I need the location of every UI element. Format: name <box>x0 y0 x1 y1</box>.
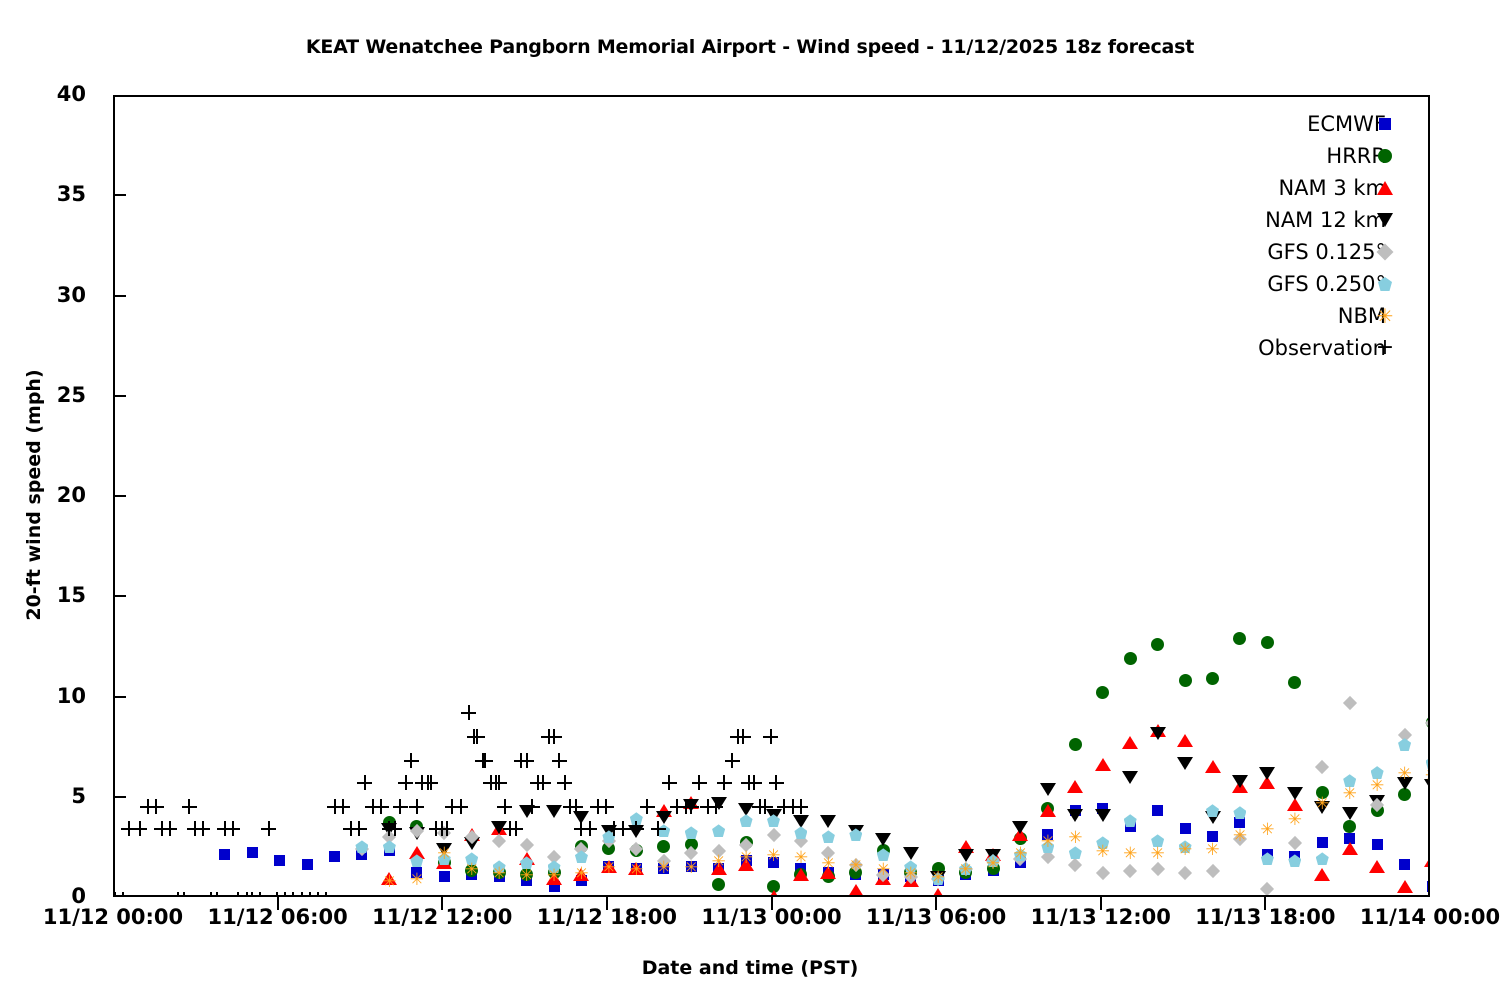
data-point-circle <box>1096 686 1109 699</box>
data-point-plus <box>149 799 164 814</box>
legend-marker-plus-icon: + <box>1374 337 1396 359</box>
data-point-tri-up <box>683 796 699 809</box>
data-point-star: ✳ <box>710 854 727 871</box>
data-point-circle <box>877 844 890 857</box>
data-point-square <box>411 867 422 878</box>
data-point-plus <box>582 821 597 836</box>
data-point-plus <box>253 892 268 896</box>
data-point-circle <box>904 866 917 879</box>
data-point-plus <box>692 775 707 790</box>
data-point-pent <box>1041 840 1054 853</box>
data-point-plus <box>519 753 534 768</box>
data-point-tri-up <box>848 884 864 895</box>
data-point-tri-down <box>875 833 891 846</box>
data-point-tri-up <box>1259 776 1275 789</box>
legend-item-nam-3-km[interactable]: NAM 3 km <box>1150 172 1420 204</box>
data-point-plus <box>209 892 224 896</box>
data-point-square <box>905 871 916 882</box>
legend-item-observation[interactable]: Observation+ <box>1150 332 1420 364</box>
data-point-plus <box>434 821 449 836</box>
data-point-pent <box>740 814 753 827</box>
data-point-plus <box>717 775 732 790</box>
x-tick-mark <box>1264 897 1266 910</box>
data-point-star: ✳ <box>765 848 782 865</box>
data-point-tri-up <box>628 862 644 875</box>
data-point-tri-down <box>1342 807 1358 820</box>
data-point-plus <box>162 821 177 836</box>
data-point-plus <box>445 799 460 814</box>
data-point-diamond <box>1068 858 1082 872</box>
data-point-plus <box>453 799 468 814</box>
data-point-diamond <box>1123 864 1137 878</box>
data-point-plus <box>467 729 482 744</box>
data-point-tri-down <box>1287 787 1303 800</box>
data-point-circle <box>493 866 506 879</box>
data-point-star: ✳ <box>1231 828 1248 845</box>
data-point-plus <box>217 821 232 836</box>
data-point-tri-up <box>1067 780 1083 793</box>
legend-item-nbm[interactable]: NBM✳ <box>1150 300 1420 332</box>
data-point-tri-down <box>848 825 864 838</box>
data-point-pent <box>520 856 533 869</box>
data-point-tri-up <box>793 868 809 881</box>
data-point-diamond <box>904 870 918 884</box>
data-point-pent <box>987 854 1000 867</box>
data-point-pent <box>548 860 561 873</box>
data-point-plus <box>547 729 562 744</box>
data-point-circle <box>1398 788 1411 801</box>
data-point-plus <box>678 799 693 814</box>
data-point-star: ✳ <box>1039 834 1056 851</box>
data-point-plus <box>187 821 202 836</box>
data-point-tri-up <box>464 828 480 841</box>
data-point-plus <box>286 892 301 896</box>
data-point-plus <box>398 775 413 790</box>
data-point-plus <box>470 729 485 744</box>
data-point-diamond <box>986 854 1000 868</box>
data-point-plus <box>615 821 630 836</box>
data-point-star: ✳ <box>1122 846 1139 863</box>
data-point-plus <box>574 821 589 836</box>
x-tick-label: 11/14 00:00 <box>1360 905 1500 929</box>
data-point-circle <box>1151 638 1164 651</box>
data-point-circle <box>822 870 835 883</box>
data-point-star: ✳ <box>957 862 974 879</box>
data-point-square <box>356 849 367 860</box>
data-point-plus <box>311 892 326 896</box>
data-point-square <box>247 847 258 858</box>
data-point-pent <box>1014 848 1027 861</box>
data-point-circle <box>740 836 753 849</box>
data-point-diamond <box>931 872 945 886</box>
data-point-star: ✳ <box>985 856 1002 873</box>
data-point-circle <box>1179 674 1192 687</box>
data-point-square <box>850 869 861 880</box>
data-point-plus <box>352 821 367 836</box>
data-point-circle <box>1261 636 1274 649</box>
data-point-tri-down <box>491 821 507 834</box>
data-point-tri-down <box>1314 801 1330 814</box>
x-tick-mark <box>771 897 773 910</box>
data-point-square <box>494 871 505 882</box>
data-point-tri-up <box>958 840 974 853</box>
data-point-diamond <box>1315 760 1329 774</box>
data-point-plus <box>116 892 131 896</box>
data-point-plus <box>374 799 389 814</box>
legend-marker-pent-icon <box>1374 273 1396 295</box>
data-point-plus <box>278 892 293 896</box>
data-point-circle <box>410 820 423 833</box>
data-point-tri-up <box>1177 734 1193 747</box>
data-point-pent <box>657 824 670 837</box>
data-point-circle <box>657 840 670 853</box>
data-point-tri-up <box>875 872 891 885</box>
data-point-tri-down <box>464 837 480 850</box>
data-point-pent <box>1069 846 1082 859</box>
data-point-square <box>988 865 999 876</box>
data-point-plus <box>327 799 342 814</box>
data-point-tri-down <box>1205 811 1221 824</box>
data-point-diamond <box>712 844 726 858</box>
data-point-pent <box>1096 836 1109 849</box>
data-point-tri-up <box>766 890 782 895</box>
data-point-star: ✳ <box>1094 844 1111 861</box>
data-point-star: ✳ <box>381 874 398 891</box>
data-point-plus <box>752 799 767 814</box>
data-point-plus <box>357 775 372 790</box>
data-point-plus <box>651 821 666 836</box>
data-point-tri-down <box>930 871 946 884</box>
data-point-plus <box>708 799 723 814</box>
data-point-diamond <box>382 830 396 844</box>
data-point-circle <box>1206 672 1219 685</box>
data-point-circle <box>1233 632 1246 645</box>
x-tick-mark <box>935 897 937 910</box>
x-tick-mark <box>1100 897 1102 910</box>
legend-item-hrrr[interactable]: HRRR <box>1150 140 1420 172</box>
data-point-tri-up <box>1205 760 1221 773</box>
data-point-tri-up <box>711 862 727 875</box>
data-point-plus <box>231 892 246 896</box>
data-point-tri-up <box>903 874 919 887</box>
data-point-tri-down <box>1122 771 1138 784</box>
data-point-square <box>521 875 532 886</box>
data-point-circle <box>548 866 561 879</box>
data-point-circle <box>849 866 862 879</box>
data-point-plus <box>747 775 762 790</box>
data-point-star: ✳ <box>600 860 617 877</box>
data-point-plus <box>195 821 210 836</box>
data-point-star: ✳ <box>820 856 837 873</box>
data-point-square <box>631 863 642 874</box>
data-point-plus <box>182 799 197 814</box>
data-point-tri-up <box>1424 854 1428 867</box>
data-point-plus <box>387 821 402 836</box>
y-tick-label: 10 <box>0 684 86 708</box>
data-point-plus <box>475 753 490 768</box>
data-point-star: ✳ <box>463 862 480 879</box>
data-point-circle <box>1426 716 1429 729</box>
diamond-icon <box>1377 244 1394 261</box>
data-point-square <box>933 875 944 886</box>
data-point-diamond <box>766 828 780 842</box>
star-icon: ✳ <box>1374 305 1396 327</box>
data-point-plus <box>393 799 408 814</box>
data-point-plus <box>132 821 147 836</box>
data-point-square <box>960 869 971 880</box>
data-point-pent <box>1206 804 1219 817</box>
data-point-circle <box>1124 652 1137 665</box>
data-point-tri-down <box>1067 809 1083 822</box>
data-point-circle <box>767 880 780 893</box>
data-point-plus <box>684 799 699 814</box>
data-point-tri-up <box>1397 880 1413 893</box>
data-point-square <box>1207 831 1218 842</box>
data-point-square <box>302 859 313 870</box>
data-point-diamond <box>958 862 972 876</box>
data-point-tri-up <box>930 888 946 895</box>
data-point-plus <box>590 799 605 814</box>
data-point-circle <box>1069 738 1082 751</box>
data-point-pent <box>1426 756 1429 769</box>
data-point-tri-up <box>409 846 425 859</box>
data-point-square <box>274 855 285 866</box>
data-point-tri-down <box>903 847 919 860</box>
circle-icon <box>1378 149 1392 163</box>
legend-marker-square-icon <box>1374 113 1396 135</box>
data-point-diamond <box>1370 798 1384 812</box>
legend-marker-tri-up-icon <box>1374 177 1396 199</box>
data-point-pent <box>932 872 945 885</box>
data-point-star: ✳ <box>792 850 809 867</box>
data-point-square <box>1234 817 1245 828</box>
data-point-diamond <box>794 834 808 848</box>
data-point-square <box>1180 823 1191 834</box>
data-point-circle <box>1041 802 1054 815</box>
legend-item-gfs-0-250[interactable]: GFS 0.250° <box>1150 268 1420 300</box>
data-point-pent <box>630 812 643 825</box>
data-point-pent <box>685 826 698 839</box>
data-point-square <box>549 881 560 892</box>
data-point-tri-up <box>1342 842 1358 855</box>
data-point-tri-down <box>656 811 672 824</box>
data-point-plus <box>404 753 419 768</box>
data-point-square <box>1042 829 1053 840</box>
data-point-tri-down <box>738 803 754 816</box>
y-tick-label: 35 <box>0 182 86 206</box>
data-point-circle <box>794 868 807 881</box>
x-tick-mark <box>606 897 608 910</box>
data-point-plus <box>599 799 614 814</box>
data-point-square <box>1097 803 1108 814</box>
pent-icon <box>1378 277 1392 291</box>
data-point-plus <box>607 821 622 836</box>
data-point-pent <box>794 826 807 839</box>
data-point-diamond <box>519 838 533 852</box>
data-point-pent <box>1398 738 1411 751</box>
data-point-tri-down <box>711 797 727 810</box>
data-point-square <box>1262 849 1273 860</box>
data-point-plus <box>557 775 572 790</box>
data-point-tri-up <box>601 860 617 873</box>
data-point-pent <box>602 830 615 843</box>
data-point-square <box>466 869 477 880</box>
data-point-tri-up <box>1232 780 1248 793</box>
data-point-star: ✳ <box>491 866 508 883</box>
legend-marker-tri-down-icon <box>1374 209 1396 231</box>
data-point-square <box>658 863 669 874</box>
x-axis-label: Date and time (PST) <box>0 957 1500 979</box>
data-point-diamond <box>1013 852 1027 866</box>
data-point-square <box>768 857 779 868</box>
data-point-plus <box>245 892 260 896</box>
data-point-plus <box>343 821 358 836</box>
data-point-square <box>1372 839 1383 850</box>
data-point-star: ✳ <box>1177 842 1194 859</box>
data-point-star: ✳ <box>1149 846 1166 863</box>
data-point-tri-up <box>820 866 836 879</box>
data-point-diamond <box>1260 882 1274 895</box>
data-point-pent <box>1179 840 1192 853</box>
legend-item-label: Observation <box>1258 336 1386 360</box>
data-point-circle <box>1316 786 1329 799</box>
data-point-tri-down <box>409 827 425 840</box>
x-tick-label: 11/12 00:00 <box>43 905 183 929</box>
data-point-tri-up <box>491 822 507 835</box>
data-point-pent <box>767 814 780 827</box>
data-point-tri-down <box>1095 809 1111 822</box>
data-point-pent <box>712 824 725 837</box>
data-point-tri-up <box>436 856 452 869</box>
data-point-square <box>329 851 340 862</box>
data-point-tri-down <box>1040 783 1056 796</box>
data-point-tri-down <box>519 805 535 818</box>
data-point-star: ✳ <box>930 870 947 887</box>
data-point-tri-down <box>1259 767 1275 780</box>
tri-up-icon <box>1377 181 1393 195</box>
data-point-plus <box>730 729 745 744</box>
data-point-star: ✳ <box>1396 766 1413 783</box>
data-point-tri-down <box>1397 777 1413 790</box>
data-point-diamond <box>1178 866 1192 880</box>
data-point-square <box>713 863 724 874</box>
data-point-plus <box>429 821 444 836</box>
data-point-plus <box>497 799 512 814</box>
data-point-pent <box>1343 774 1356 787</box>
data-point-plus <box>785 799 800 814</box>
data-point-star: ✳ <box>546 868 563 885</box>
data-point-tri-down <box>793 815 809 828</box>
data-point-circle <box>630 844 643 857</box>
data-point-circle <box>602 842 615 855</box>
data-point-star: ✳ <box>1341 786 1358 803</box>
data-point-star: ✳ <box>1369 778 1386 795</box>
data-point-pent <box>355 840 368 853</box>
data-point-tri-up <box>1012 828 1028 841</box>
y-tick-label: 5 <box>0 784 86 808</box>
data-point-diamond <box>684 846 698 860</box>
y-tick-label: 30 <box>0 283 86 307</box>
data-point-tri-up <box>519 852 535 865</box>
data-point-star: ✳ <box>1204 842 1221 859</box>
data-point-star: ✳ <box>1067 830 1084 847</box>
data-point-tri-up <box>546 872 562 885</box>
data-point-square <box>603 861 614 872</box>
data-point-diamond <box>849 858 863 872</box>
data-point-plus <box>483 775 498 790</box>
data-point-diamond <box>574 842 588 856</box>
data-point-square <box>1317 837 1328 848</box>
data-point-square <box>1125 821 1136 832</box>
data-point-circle <box>1288 676 1301 689</box>
data-point-tri-down <box>1369 795 1385 808</box>
data-point-star: ✳ <box>1259 822 1276 839</box>
data-point-pent <box>438 852 451 865</box>
data-point-circle <box>932 862 945 875</box>
legend-item-nam-12-km[interactable]: NAM 12 km <box>1150 204 1420 236</box>
data-point-tri-up <box>1122 736 1138 749</box>
legend-marker-circle-icon <box>1374 145 1396 167</box>
data-point-circle <box>1014 832 1027 845</box>
data-point-diamond <box>410 824 424 838</box>
data-point-plus <box>793 799 808 814</box>
data-point-tri-down <box>1150 727 1166 740</box>
data-point-square <box>1344 833 1355 844</box>
data-point-circle <box>959 866 972 879</box>
data-point-tri-up <box>1040 804 1056 817</box>
data-point-tri-down <box>958 849 974 862</box>
data-point-star: ✳ <box>655 860 672 877</box>
data-point-square <box>1152 805 1163 816</box>
data-point-plus <box>508 821 523 836</box>
x-tick-mark <box>441 897 443 910</box>
data-point-plus <box>420 775 435 790</box>
data-point-diamond <box>602 834 616 848</box>
data-point-tri-up <box>738 858 754 871</box>
data-point-square <box>1427 881 1429 892</box>
data-point-square <box>1015 857 1026 868</box>
data-point-plus <box>154 821 169 836</box>
data-point-plus <box>365 799 380 814</box>
data-point-tri-down <box>820 815 836 828</box>
data-point-plus <box>439 821 454 836</box>
data-point-tri-up <box>1095 758 1111 771</box>
data-point-square <box>795 863 806 874</box>
data-point-star: ✳ <box>1012 846 1029 863</box>
data-point-square <box>1289 851 1300 862</box>
legend-item-ecmwf[interactable]: ECMWF <box>1150 108 1420 140</box>
data-point-square <box>384 845 395 856</box>
data-point-pent <box>904 860 917 873</box>
data-point-square <box>439 871 450 882</box>
legend-item-label: GFS 0.250° <box>1267 272 1386 296</box>
tri-down-icon <box>1377 213 1393 227</box>
data-point-pent <box>959 862 972 875</box>
legend-marker-star-icon: ✳ <box>1374 305 1396 327</box>
data-point-star: ✳ <box>847 858 864 875</box>
data-point-square <box>1399 859 1410 870</box>
data-point-tri-down <box>381 823 397 836</box>
data-point-pent <box>822 830 835 843</box>
data-point-plus <box>563 799 578 814</box>
data-point-plus <box>115 892 123 896</box>
data-point-diamond <box>1425 715 1428 729</box>
data-point-pent <box>465 852 478 865</box>
legend-item-gfs-0-125[interactable]: GFS 0.125° <box>1150 236 1420 268</box>
data-point-plus <box>225 821 240 836</box>
data-point-plus <box>530 775 545 790</box>
data-point-pent <box>1233 806 1246 819</box>
